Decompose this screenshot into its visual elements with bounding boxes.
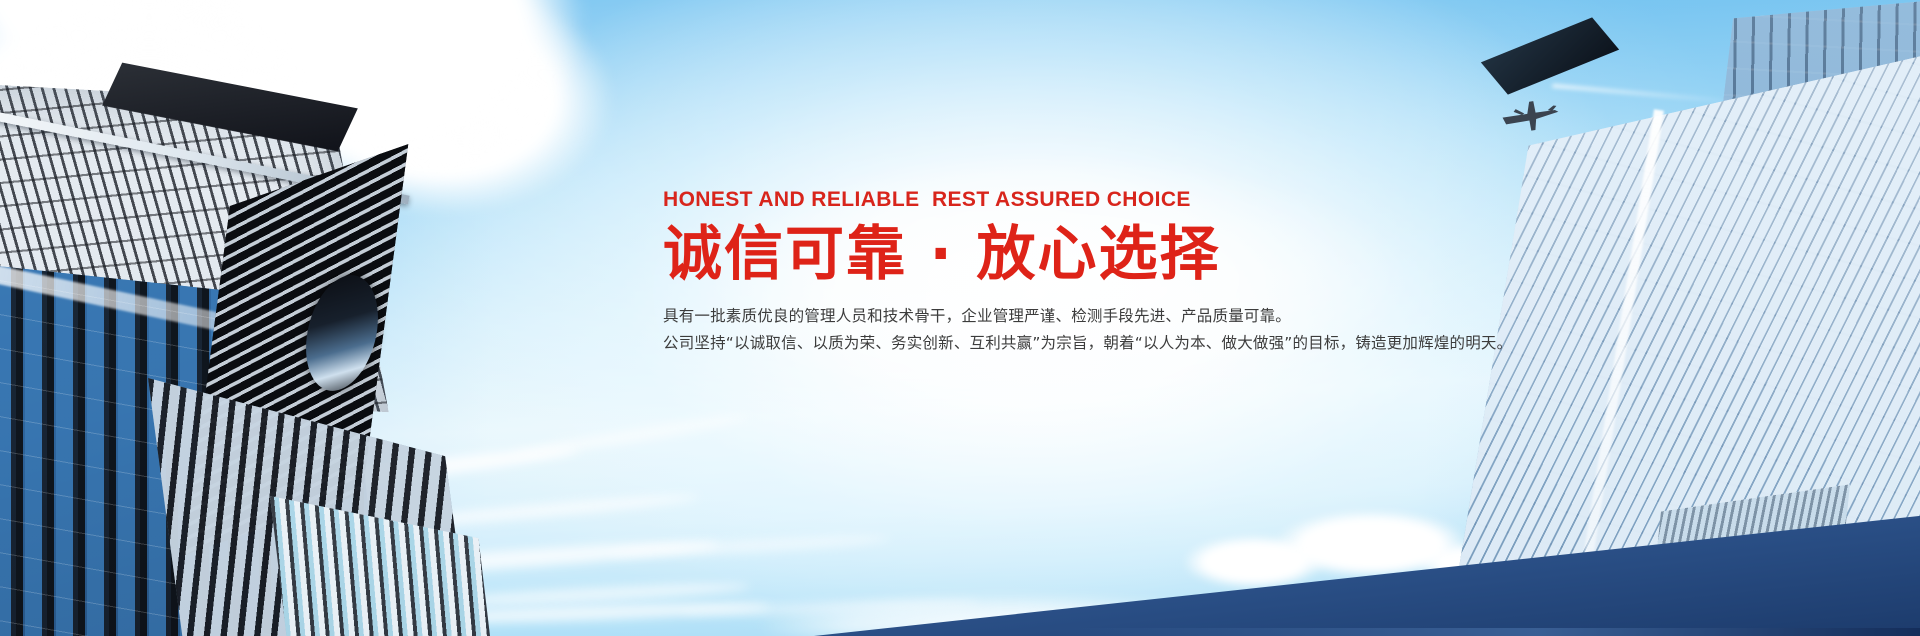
banner-body-line-1: 具有一批素质优良的管理人员和技术骨干，企业管理严谨、检测手段先进、产品质量可靠。 bbox=[663, 303, 1423, 330]
banner-headline: 诚信可靠 · 放心选择 bbox=[663, 221, 1423, 287]
banner-kicker: HONEST AND RELIABLE REST ASSURED CHOICE bbox=[663, 188, 1423, 211]
banner-copy: HONEST AND RELIABLE REST ASSURED CHOICE … bbox=[663, 188, 1423, 356]
left-building bbox=[0, 78, 460, 636]
bottom-edge-fill bbox=[0, 628, 1920, 636]
banner-body-line-2: 公司坚持“以诚取信、以质为荣、务实创新、互利共赢”为宗旨，朝着“以人为本、做大做… bbox=[663, 330, 1423, 357]
banner-body: 具有一批素质优良的管理人员和技术骨干，企业管理严谨、检测手段先进、产品质量可靠。… bbox=[663, 303, 1423, 356]
hero-banner: HONEST AND RELIABLE REST ASSURED CHOICE … bbox=[0, 0, 1920, 636]
